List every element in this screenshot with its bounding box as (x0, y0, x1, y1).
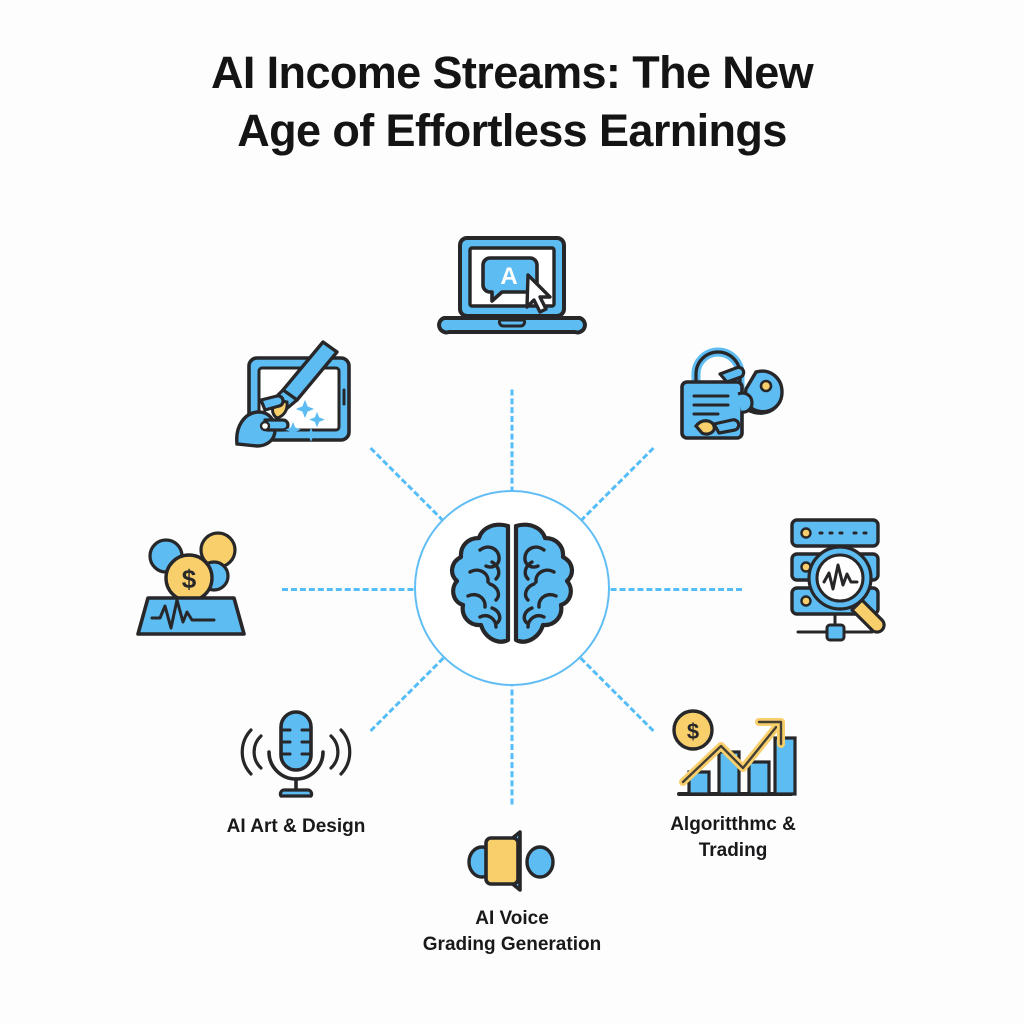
page-title: AI Income Streams: The New Age of Effort… (0, 44, 1024, 160)
infographic-canvas: AI Income Streams: The New Age of Effort… (0, 0, 1024, 1024)
coin-network-pulse-icon: $ (130, 524, 252, 640)
node-lock-robot[interactable] (662, 338, 802, 454)
dollar-sign-icon: $ (687, 719, 699, 744)
microphone-waves-icon (233, 704, 359, 804)
node-microphone-label: AI Art & Design (212, 814, 380, 840)
laptop-chat-icon: A (436, 232, 588, 340)
tablet-brush-robot-icon (231, 340, 367, 450)
node-laptop[interactable]: A (432, 232, 592, 350)
server-magnifier-icon (784, 512, 900, 648)
node-voice-label: AI Voice Grading Generation (422, 906, 602, 958)
node-art-tablet[interactable] (224, 340, 374, 460)
lock-robot-hand-icon (670, 338, 794, 444)
node-trading-label: Algoritthmc & Trading (650, 812, 816, 864)
dollar-sign-icon: $ (182, 564, 197, 594)
chat-bubble-letter: A (500, 263, 517, 290)
node-trading[interactable]: $ Algoritthmc & Trading (650, 706, 816, 864)
brain-icon (444, 516, 580, 660)
speaker-horn-icon (464, 824, 560, 896)
node-microphone[interactable]: AI Art & Design (212, 704, 380, 840)
node-voice[interactable]: AI Voice Grading Generation (422, 824, 602, 958)
title-line-2: Age of Effortless Earnings (0, 102, 1024, 160)
growth-chart-coin-icon: $ (663, 706, 803, 802)
node-money-network[interactable]: $ (126, 524, 256, 650)
title-line-1: AI Income Streams: The New (0, 44, 1024, 102)
node-server-analytics[interactable] (780, 512, 904, 658)
